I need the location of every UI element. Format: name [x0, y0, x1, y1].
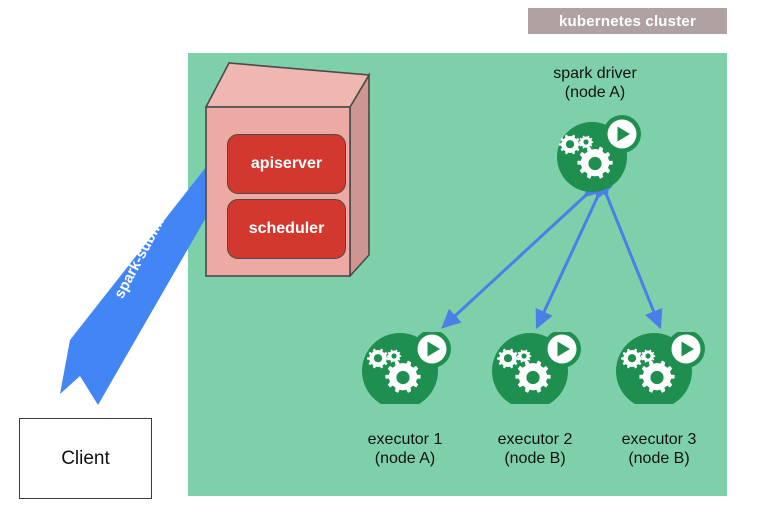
spark-submit-arrow [58, 162, 223, 405]
scheduler-tile-label: scheduler [249, 220, 325, 238]
client-label: Client [61, 448, 110, 470]
spark-driver-node[interactable] [551, 115, 641, 193]
executor-2-label-line2: (node B) [475, 449, 595, 468]
spark-driver-label-line2: (node A) [530, 83, 660, 102]
client-box[interactable]: Client [19, 418, 152, 499]
executor-3-node[interactable] [612, 332, 707, 404]
scheduler-tile[interactable]: scheduler [227, 199, 346, 259]
play-icon[interactable] [548, 335, 577, 364]
cube-side-face [350, 75, 369, 276]
apiserver-tile[interactable]: apiserver [227, 134, 346, 194]
kubernetes-cluster-banner-label: kubernetes cluster [559, 13, 696, 30]
diagram-canvas: kubernetes cluster spark-submit apiserve… [0, 0, 761, 516]
cube-top-face [206, 63, 369, 107]
spark-driver-label-line1: spark driver [530, 64, 660, 83]
executor-2-label-line1: executor 2 [475, 430, 595, 449]
executor-1-label-line2: (node A) [345, 449, 465, 468]
apiserver-tile-label: apiserver [251, 155, 322, 173]
executor-3-label: executor 3 (node B) [599, 430, 719, 468]
executor-1-label-line1: executor 1 [345, 430, 465, 449]
spark-submit-arrow-shape [60, 162, 223, 405]
play-icon[interactable] [418, 335, 447, 364]
executor-1-label: executor 1 (node A) [345, 430, 465, 468]
executor-2-node[interactable] [488, 332, 583, 404]
control-plane-cube: apiserver scheduler [205, 62, 370, 277]
executor-2-label: executor 2 (node B) [475, 430, 595, 468]
executor-1-node[interactable] [358, 332, 453, 404]
kubernetes-cluster-banner: kubernetes cluster [528, 8, 727, 34]
executor-3-label-line1: executor 3 [599, 430, 719, 449]
executor-3-label-line2: (node B) [599, 449, 719, 468]
play-icon[interactable] [672, 335, 701, 364]
spark-driver-label: spark driver (node A) [530, 64, 660, 102]
play-icon[interactable] [608, 120, 637, 149]
